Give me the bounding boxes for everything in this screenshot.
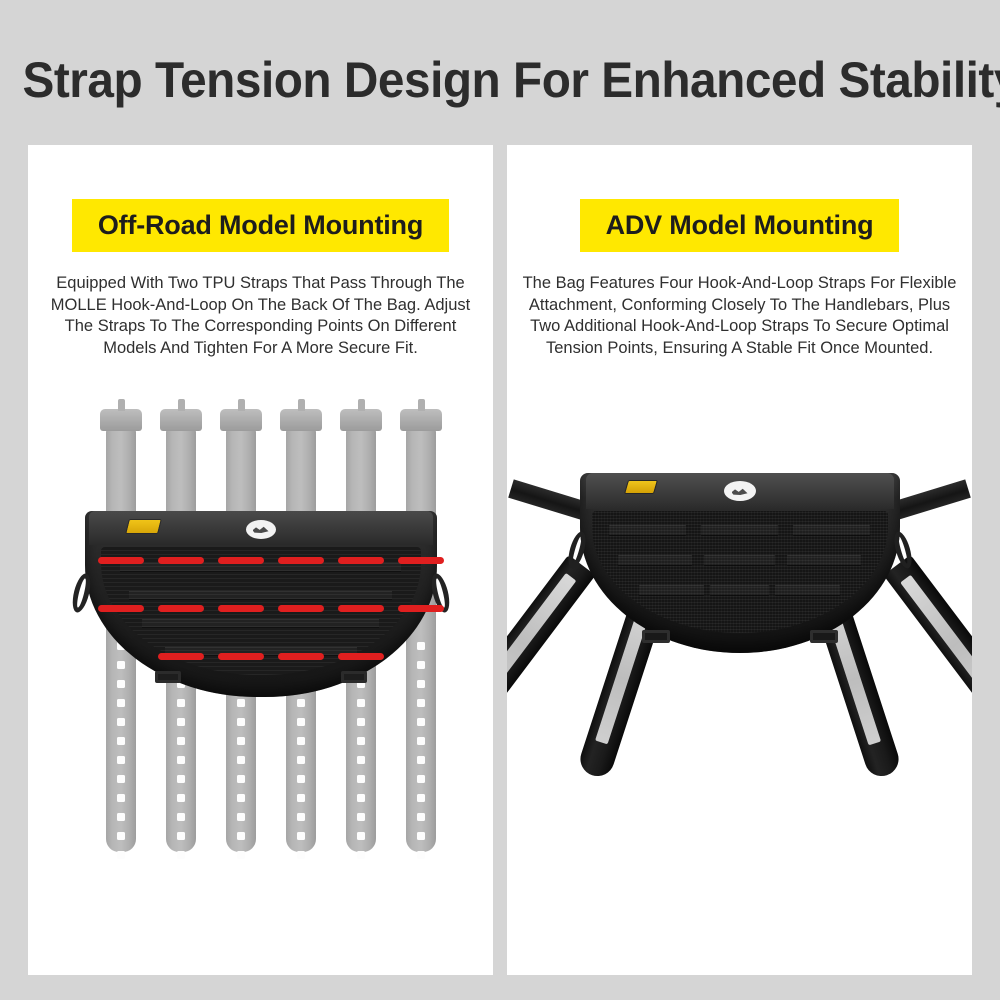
handlebar-bag-molle-back — [85, 511, 437, 697]
panel-body-adv: The Bag Features Four Hook-And-Loop Stra… — [519, 273, 960, 359]
tension-marker — [278, 557, 324, 564]
tpu-strap-head — [220, 409, 262, 431]
molle-slot — [639, 585, 704, 596]
tension-marker — [98, 557, 144, 564]
molle-slot — [618, 555, 692, 566]
adv-mounting-diagram — [507, 445, 972, 925]
handlebar-bag-velcro-back — [580, 473, 900, 653]
molle-slot — [701, 525, 778, 536]
tpu-strap-nub — [358, 399, 365, 411]
tension-marker — [338, 557, 384, 564]
tension-marker — [398, 605, 444, 612]
tpu-strap-nub — [178, 399, 185, 411]
panel-heading-adv: ADV Model Mounting — [580, 199, 900, 252]
bottom-loop — [810, 630, 838, 643]
tension-marker — [278, 653, 324, 660]
tension-marker — [158, 557, 204, 564]
panel-container: Off-Road Model Mounting Equipped With Tw… — [28, 145, 972, 975]
tension-marker — [398, 557, 444, 564]
tpu-strap-nub — [418, 399, 425, 411]
panel-heading-off-road: Off-Road Model Mounting — [72, 199, 449, 252]
molle-slot — [710, 585, 769, 596]
tension-marker — [98, 605, 144, 612]
tpu-strap-head — [160, 409, 202, 431]
tpu-strap-head — [400, 409, 442, 431]
tension-marker — [158, 605, 204, 612]
tension-marker — [218, 605, 264, 612]
tension-marker — [278, 605, 324, 612]
tension-marker — [218, 557, 264, 564]
tension-marker — [338, 653, 384, 660]
tpu-strap-nub — [298, 399, 305, 411]
molle-slot — [787, 555, 861, 566]
tension-marker — [338, 605, 384, 612]
bottom-loop — [155, 671, 181, 683]
heading-chip-wrap-adv: ADV Model Mounting — [507, 199, 972, 252]
panel-adv: ADV Model Mounting The Bag Features Four… — [507, 145, 972, 975]
molle-slot — [775, 585, 840, 596]
tpu-strap-nub — [238, 399, 245, 411]
molle-slot — [609, 525, 686, 536]
off-road-mounting-diagram — [28, 407, 493, 927]
yellow-warning-tag — [623, 480, 657, 494]
molle-row — [129, 591, 391, 600]
panel-body-off-road: Equipped With Two TPU Straps That Pass T… — [40, 273, 481, 359]
panel-off-road: Off-Road Model Mounting Equipped With Tw… — [28, 145, 493, 975]
tension-marker — [158, 653, 204, 660]
tpu-strap-nub — [118, 399, 125, 411]
tension-marker — [218, 653, 264, 660]
page-title: Strap Tension Design For Enhanced Stabil… — [23, 52, 978, 108]
tpu-strap-head — [100, 409, 142, 431]
molle-row — [142, 619, 379, 628]
yellow-warning-tag — [125, 519, 162, 534]
molle-slot — [793, 525, 870, 536]
heading-chip-wrap-off-road: Off-Road Model Mounting — [28, 199, 493, 252]
tpu-strap-head — [340, 409, 382, 431]
brand-oval-badge — [246, 520, 276, 539]
infographic-page: Strap Tension Design For Enhanced Stabil… — [0, 0, 1000, 1000]
molle-slot — [704, 555, 775, 566]
brand-oval-badge — [724, 481, 756, 501]
bottom-loop — [341, 671, 367, 683]
tpu-strap-head — [280, 409, 322, 431]
molle-row — [120, 563, 402, 572]
bottom-loop — [642, 630, 670, 643]
